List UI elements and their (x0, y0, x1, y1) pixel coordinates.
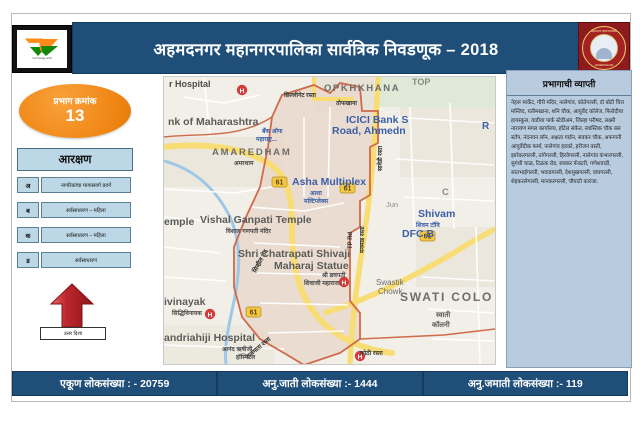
st-population-text: अनु.जमाती लोकसंख्या :- 119 (468, 377, 583, 391)
reservation-value-cell: नागरिकांचा मागासवर्ग प्रवर्ग (41, 177, 131, 193)
reservation-value-text: नागरिकांचा मागासवर्ग प्रवर्ग (61, 181, 111, 189)
map-place-label: AMAREDHAM (212, 147, 292, 158)
map-place-label: बँक ऑफ (261, 127, 283, 135)
scope-title: प्रभागाची व्याप्ती (507, 71, 631, 96)
hospital-pin-letter: H (208, 312, 213, 319)
map-road-label: मनमाड रस्ता (360, 226, 366, 254)
election-ward-map-poster: भारत निवडणूक आयोग अहमदनगर महानगरपालिका स… (0, 0, 640, 434)
reservation-row-d: ड सर्वसाधारण (17, 252, 131, 268)
map-place-label: मल्टिप्लेक्स (303, 197, 329, 205)
map-canvas[interactable]: 61616161 HHHH सिव्हील रोडराजमाता रस्तासा… (164, 77, 495, 364)
map-place-label: Asha Multiplex (292, 176, 366, 188)
map-place-label: R (482, 121, 490, 132)
st-population-cell: अनु.जमाती लोकसंख्या :- 119 (423, 371, 628, 396)
map-place-label: emple (164, 216, 195, 228)
page-title: अहमदनगर महानगरपालिका सार्वत्रिक निवडणूक … (153, 37, 498, 60)
map-place-label: Shivam (418, 208, 455, 220)
municipal-corporation-seal-icon: अहमदनगर महानगरपालिका AHMEDNAGAR (578, 22, 630, 74)
map-place-label: OPKHKHANA (324, 83, 400, 94)
map-place-label: आनंद ऋषीजी (222, 345, 253, 353)
scope-text: नेहरू मार्केट, गौरी मंदिर, नालेगांव, कोत… (511, 99, 627, 187)
reservation-key-text: ब (26, 206, 30, 215)
reservation-row-a: अ नागरिकांचा मागासवर्ग प्रवर्ग (17, 177, 131, 193)
reservation-key-text: क (26, 231, 31, 240)
reservation-key-text: अ (26, 181, 31, 190)
population-footer: एकूण लोकसंख्या : - 20759 अनु.जाती लोकसंख… (12, 371, 628, 396)
seal-top-text: अहमदनगर महानगरपालिका (591, 29, 617, 33)
map-place-label: ivinayak (164, 296, 206, 308)
ward-scope-panel: प्रभागाची व्याप्ती नेहरू मार्केट, गौरी म… (506, 70, 632, 368)
header: भारत निवडणूक आयोग अहमदनगर महानगरपालिका स… (12, 22, 628, 72)
map-place-label: Swastik (376, 278, 405, 287)
map-place-label: SWATI COLO (400, 290, 493, 304)
map-road-label: TP Rd (348, 231, 354, 249)
ward-badge-number: 13 (66, 106, 85, 126)
reservation-value-cell: सर्वसाधारण – महिला (41, 227, 131, 243)
map-place-label: सिद्धिविनायक (171, 309, 202, 317)
highway-shield-label: 61 (250, 310, 258, 317)
reservation-key-cell: ड (17, 252, 39, 268)
reservation-key-cell: क (17, 227, 39, 243)
map-place-label: Road, Ahmedn (332, 125, 406, 137)
ward-map[interactable]: 61616161 HHHH सिव्हील रोडराजमाता रस्तासा… (163, 76, 496, 365)
north-label-text: उत्तर दिशा (64, 331, 82, 337)
map-place-label: r Hospital (169, 79, 211, 89)
reservation-value-cell: सर्वसाधारण (41, 252, 131, 268)
seal-bottom-text: AHMEDNAGAR (595, 64, 614, 67)
map-place-label: DFC B (402, 228, 434, 240)
north-label-box: उत्तर दिशा (40, 327, 106, 340)
reservation-value-text: सर्वसाधारण (75, 256, 97, 264)
total-population-text: एकूण लोकसंख्या : - 20759 (60, 377, 169, 391)
north-arrow-icon (48, 283, 96, 328)
highway-shield-label: 61 (276, 180, 284, 187)
emblem-caption: भारत निवडणूक आयोग (32, 58, 52, 61)
map-place-label: Maharaj Statue (274, 260, 349, 272)
map-place-label: अमरधाम (234, 161, 254, 167)
scope-body: नेहरू मार्केट, गौरी मंदिर, नालेगांव, कोत… (507, 96, 631, 187)
total-population-cell: एकूण लोकसंख्या : - 20759 (12, 371, 217, 396)
sc-population-text: अनु.जाती लोकसंख्या :- 1444 (262, 377, 377, 391)
header-title-bar: अहमदनगर महानगरपालिका सार्वत्रिक निवडणूक … (72, 22, 580, 74)
map-place-label: Shri Chatrapati Shivaji (238, 248, 350, 260)
reservation-row-b: ब सर्वसाधारण – महिला (17, 202, 131, 218)
scope-title-text: प्रभागाची व्याप्ती (543, 77, 596, 90)
map-place-label: Jun (386, 200, 398, 209)
map-place-label: आशा (310, 191, 322, 197)
reservation-value-cell: सर्वसाधारण – महिला (41, 202, 131, 218)
map-place-label: तोफखाना (335, 99, 357, 107)
map-place-label: महाराष्ट्र... (255, 137, 277, 143)
map-place-label: शिवाजी महाराज... (303, 279, 344, 287)
reservation-key-cell: ब (17, 202, 39, 218)
map-place-label: nk of Maharashtra (168, 116, 259, 128)
ward-badge-label: प्रभाग क्रमांक (54, 97, 97, 106)
reservation-title-text: आरक्षण (58, 152, 91, 167)
ward-number-badge: प्रभाग क्रमांक 13 (19, 84, 131, 138)
map-place-label: विशाल गणपती मंदिर (225, 227, 271, 235)
map-place-label: Vishal Ganpati Temple (200, 214, 312, 226)
map-place-label: हॉस्पिटल (235, 353, 256, 361)
hospital-pin-letter: H (240, 88, 245, 95)
sc-population-cell: अनु.जाती लोकसंख्या :- 1444 (217, 371, 422, 396)
map-place-label: श्री छत्रपती (321, 271, 346, 279)
map-place-label: कॉलनी (431, 320, 451, 329)
map-road-label: सावेडी रस्ता (376, 145, 384, 172)
reservation-key-text: ड (26, 256, 29, 265)
reservation-row-c: क सर्वसाधारण – महिला (17, 227, 131, 243)
map-place-label: कोठी रस्ता (359, 349, 383, 357)
reservation-value-text: सर्वसाधारण – महिला (66, 206, 105, 214)
map-place-label: छिल्लीगेट रस्ता (283, 91, 316, 99)
map-place-label: C (442, 187, 449, 198)
map-place-label: andriahiji Hospital (164, 332, 255, 344)
map-place-label: TOP (412, 77, 430, 87)
reservation-value-text: सर्वसाधारण – महिला (66, 231, 105, 239)
reservation-key-cell: अ (17, 177, 39, 193)
map-place-label: स्वाती (435, 310, 451, 319)
tricolor-check-icon (25, 37, 59, 57)
north-direction-indicator: उत्तर दिशा (40, 283, 104, 345)
election-commission-emblem-icon: भारत निवडणूक आयोग (12, 25, 72, 73)
reservation-table-title: आरक्षण (17, 148, 133, 171)
